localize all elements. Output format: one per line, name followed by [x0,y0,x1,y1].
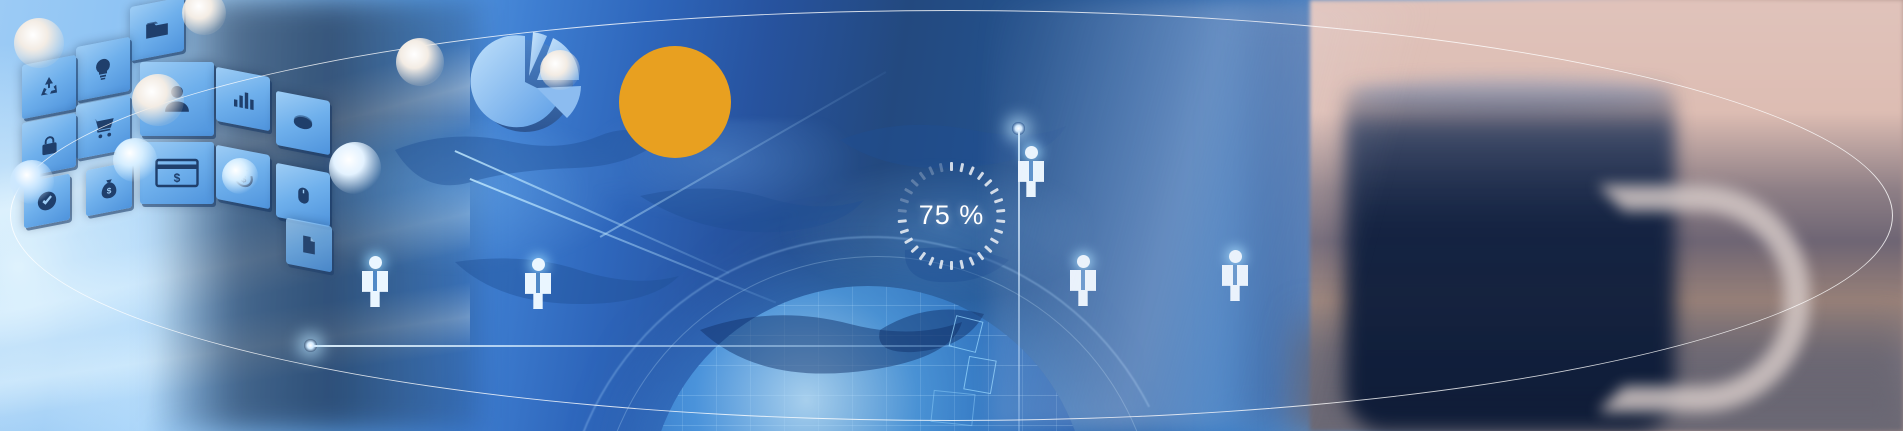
network-node [540,50,580,90]
network-node [14,18,64,68]
person-body-icon [362,271,388,307]
network-node [132,74,184,126]
network-node [113,138,157,182]
gauge-value: 75 % [0,0,1903,431]
network-node [396,38,444,86]
network-node [10,160,54,204]
promo-banner: $ $ $ [0,0,1903,431]
person-pictogram [362,256,388,307]
person-head-icon [369,256,382,269]
network-node [222,158,258,194]
network-node [329,142,381,194]
person-pictogram [525,258,551,309]
person-head-icon [532,258,545,271]
decor-square [930,390,975,426]
connector-node [304,339,317,352]
person-body-icon [525,273,551,309]
scan-highlight [990,0,1510,431]
connector-line [312,345,952,347]
